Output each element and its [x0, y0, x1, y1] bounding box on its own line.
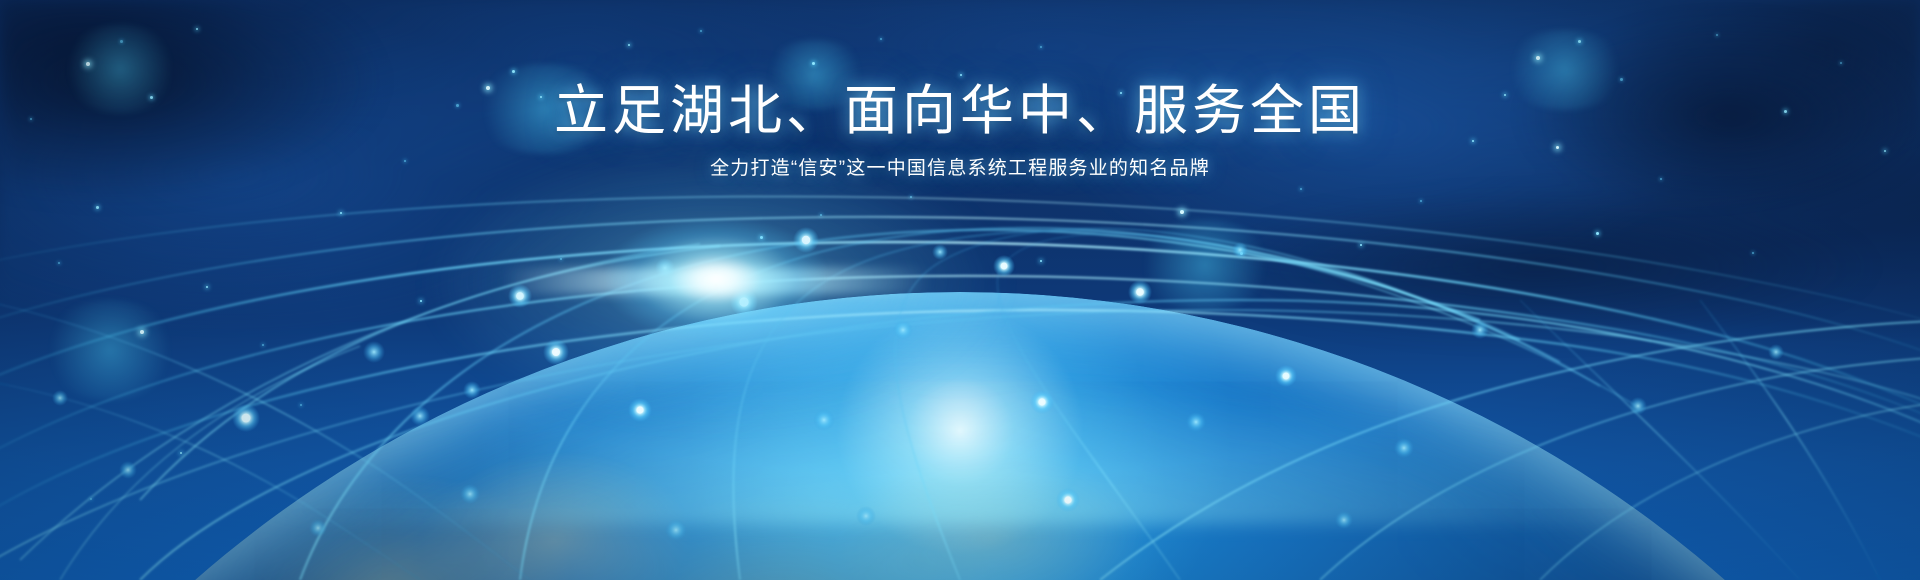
network-nodes	[52, 227, 1784, 541]
hero-banner: 立足湖北、面向华中、服务全国 全力打造“信安”这一中国信息系统工程服务业的知名品…	[0, 0, 1920, 580]
banner-copy: 立足湖北、面向华中、服务全国 全力打造“信安”这一中国信息系统工程服务业的知名品…	[0, 82, 1920, 181]
banner-subheadline: 全力打造“信安”这一中国信息系统工程服务业的知名品牌	[0, 158, 1920, 181]
banner-headline: 立足湖北、面向华中、服务全国	[0, 82, 1920, 140]
